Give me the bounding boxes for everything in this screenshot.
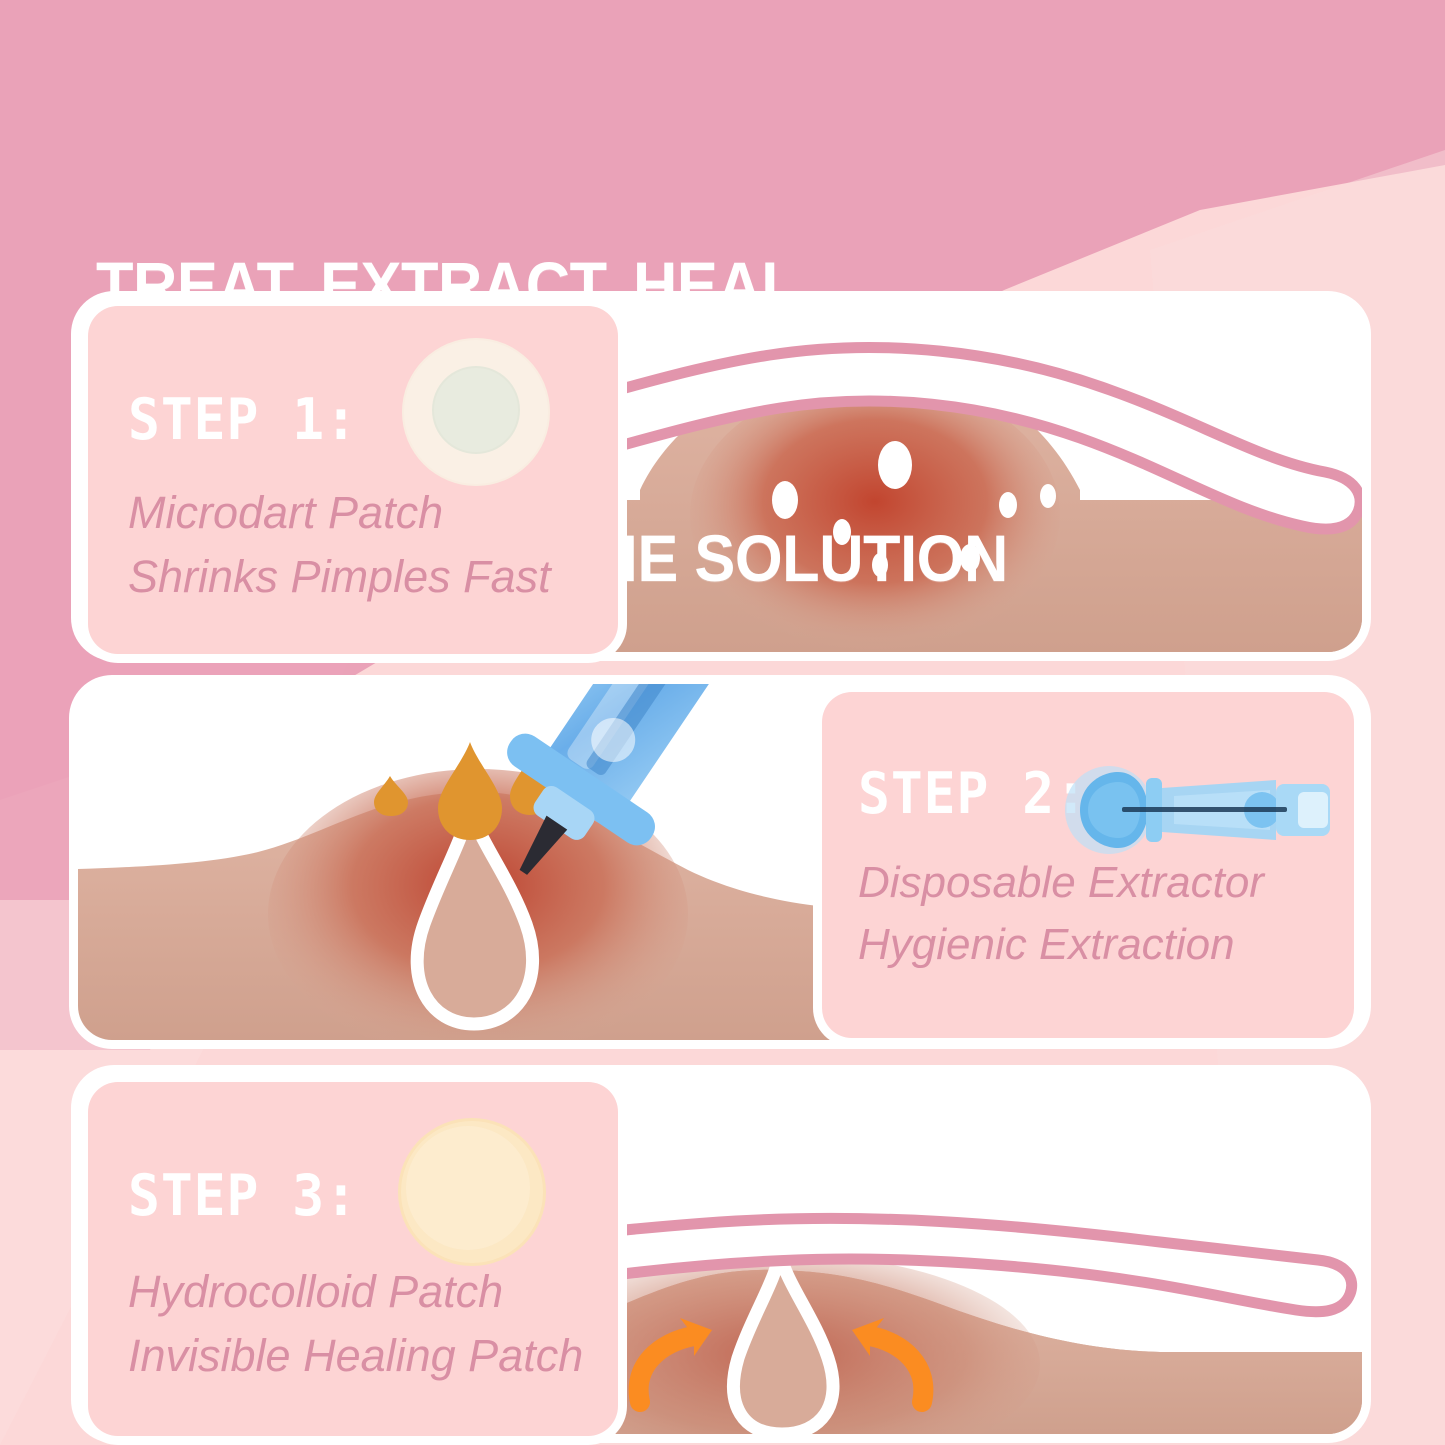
step-1-body: Microdart Patch Shrinks Pimples Fast — [128, 481, 551, 609]
microdart-patch-icon — [396, 334, 556, 494]
step-2-body: Disposable Extractor Hygienic Extraction — [858, 852, 1264, 977]
step-1-label: STEP 1: — [128, 386, 358, 453]
hydrocolloid-patch-icon — [392, 1112, 552, 1272]
step-2-label: STEP 2: — [858, 760, 1088, 827]
step-3-label: STEP 3: — [128, 1162, 358, 1229]
lancet-extractor-icon — [1062, 762, 1352, 858]
step-card-2[interactable]: STEP 2: Disposable Extractor Hygienic Ex… — [822, 692, 1354, 1038]
step-3-body: Hydrocolloid Patch Invisible Healing Pat… — [128, 1260, 583, 1388]
